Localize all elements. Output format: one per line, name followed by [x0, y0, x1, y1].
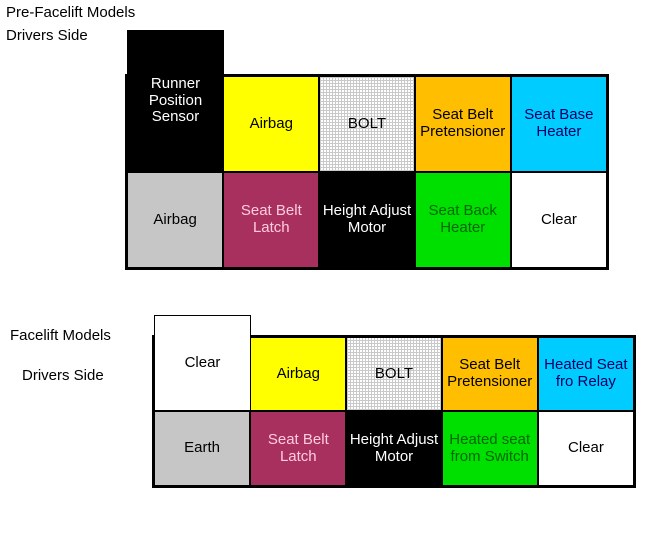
fuse-height-adjust-motor-facelift[interactable]: Height Adjust Motor	[346, 411, 441, 486]
fuse-row-pre-top: Runner Position Sensor Airbag BOLT Seat …	[127, 76, 607, 172]
fuse-slot-spacer: Runner Position Sensor	[127, 76, 223, 172]
fuse-airbag-pre-top[interactable]: Airbag	[223, 76, 319, 172]
fuse-clear-facelift-bottom[interactable]: Clear	[538, 411, 634, 486]
pre-facelift-caption-line2: Drivers Side	[6, 28, 88, 45]
fuse-seat-base-heater[interactable]: Seat Base Heater	[511, 76, 607, 172]
pre-facelift-caption-line1: Pre-Facelift Models	[6, 5, 135, 22]
fuse-slot-spacer: Clear	[154, 337, 250, 411]
fuse-clear-pre-bottom[interactable]: Clear	[511, 172, 607, 268]
fuse-row-facelift-top: Clear Airbag BOLT Seat Belt Pretensioner…	[154, 337, 634, 411]
fuse-box-facelift: Clear Airbag BOLT Seat Belt Pretensioner…	[152, 335, 636, 488]
fuse-seat-belt-latch-pre[interactable]: Seat Belt Latch	[223, 172, 319, 268]
fuse-box-pre-facelift: Runner Position Sensor Airbag BOLT Seat …	[125, 74, 609, 270]
fuse-bolt-facelift[interactable]: BOLT	[346, 337, 441, 411]
fuse-row-facelift-bottom: Earth Seat Belt Latch Height Adjust Moto…	[154, 411, 634, 486]
fuse-airbag-pre-bottom[interactable]: Airbag	[127, 172, 223, 268]
fuse-heated-seat-from-relay[interactable]: Heated Seat fro Relay	[538, 337, 634, 411]
fuse-seat-back-heater[interactable]: Seat Back Heater	[415, 172, 511, 268]
fuse-heated-seat-from-switch[interactable]: Heated seat from Switch	[442, 411, 538, 486]
fuse-earth[interactable]: Earth	[154, 411, 250, 486]
fuse-height-adjust-motor-pre[interactable]: Height Adjust Motor	[319, 172, 414, 268]
facelift-caption-line2: Drivers Side	[22, 368, 104, 385]
fuse-clear-facelift-top[interactable]: Clear	[154, 315, 251, 411]
facelift-caption-line1: Facelift Models	[10, 328, 111, 345]
fuse-seat-belt-latch-facelift[interactable]: Seat Belt Latch	[250, 411, 346, 486]
fuse-bolt-pre[interactable]: BOLT	[319, 76, 414, 172]
fuse-seat-belt-pretensioner-pre[interactable]: Seat Belt Pretensioner	[415, 76, 511, 172]
fuse-runner-position-sensor[interactable]: Runner Position Sensor	[127, 30, 224, 172]
fuse-row-pre-bottom: Airbag Seat Belt Latch Height Adjust Mot…	[127, 172, 607, 268]
fuse-seat-belt-pretensioner-facelift[interactable]: Seat Belt Pretensioner	[442, 337, 538, 411]
fuse-airbag-facelift[interactable]: Airbag	[250, 337, 346, 411]
